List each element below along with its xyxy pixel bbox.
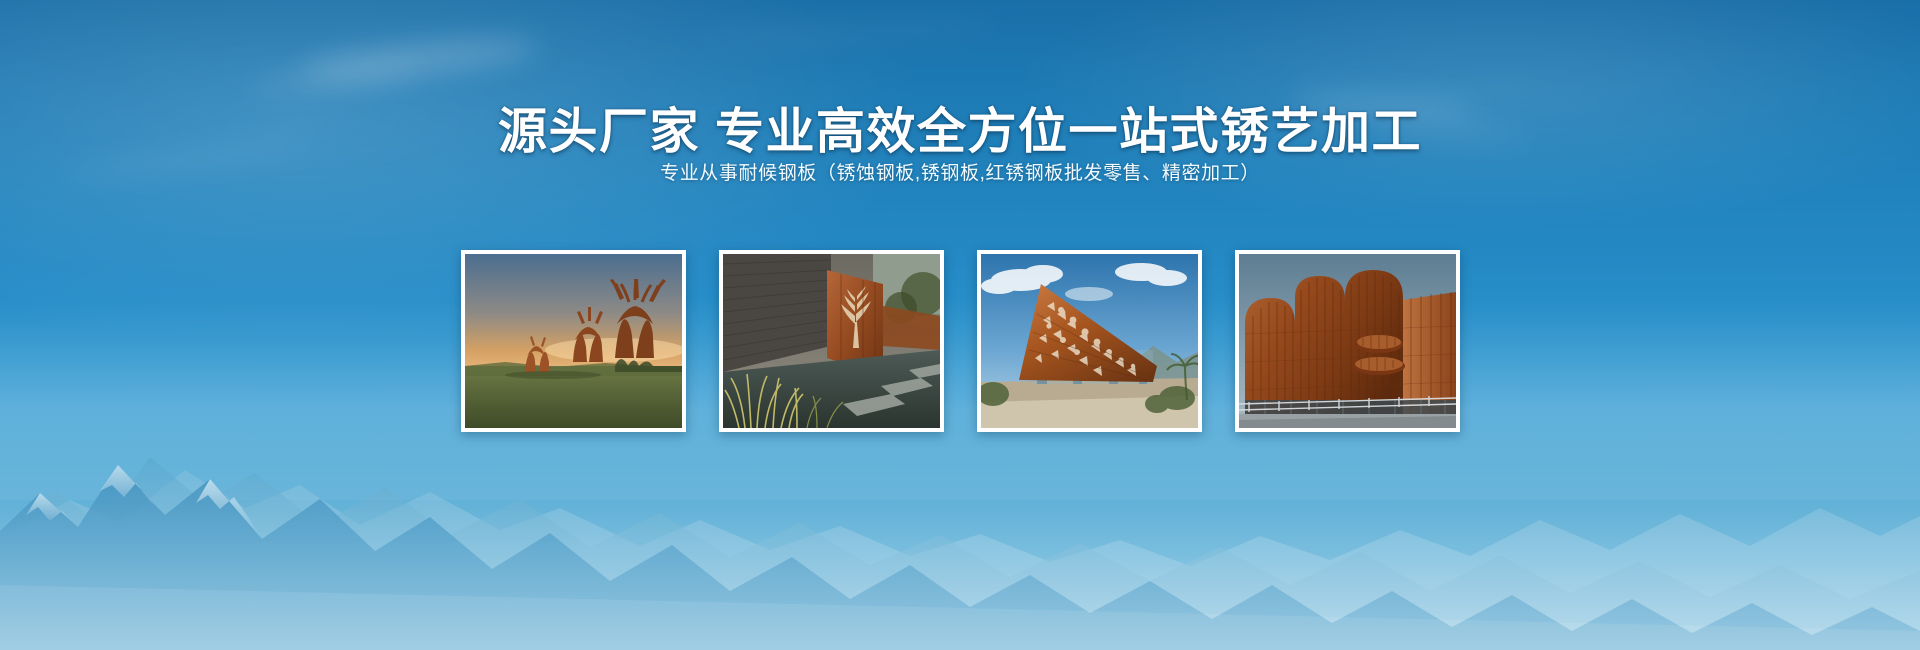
gallery-card-corten-curved-facade[interactable]	[1235, 250, 1460, 432]
product-gallery	[0, 250, 1920, 432]
gallery-card-corten-deer-sculptures[interactable]	[461, 250, 686, 432]
photo-thumbnail	[981, 254, 1198, 428]
page-title: 源头厂家 专业高效全方位一站式锈艺加工	[0, 92, 1920, 163]
cloud-wisp-icon	[250, 63, 421, 94]
gallery-card-corten-triangular-facade[interactable]	[977, 250, 1202, 432]
gallery-card-corten-screen-wall[interactable]	[719, 250, 944, 432]
photo-thumbnail	[465, 254, 682, 428]
photo-thumbnail	[1239, 254, 1456, 428]
cloud-wisp-icon	[700, 21, 1000, 45]
mountain-range-near-icon	[0, 435, 1920, 650]
photo-thumbnail	[723, 254, 940, 428]
hero-banner: 源头厂家 专业高效全方位一站式锈艺加工 专业从事耐候钢板（锈蚀钢板,锈钢板,红锈…	[0, 0, 1920, 650]
cloud-wisp-icon	[299, 34, 540, 85]
page-subtitle: 专业从事耐候钢板（锈蚀钢板,锈钢板,红锈钢板批发零售、精密加工）	[0, 158, 1920, 185]
